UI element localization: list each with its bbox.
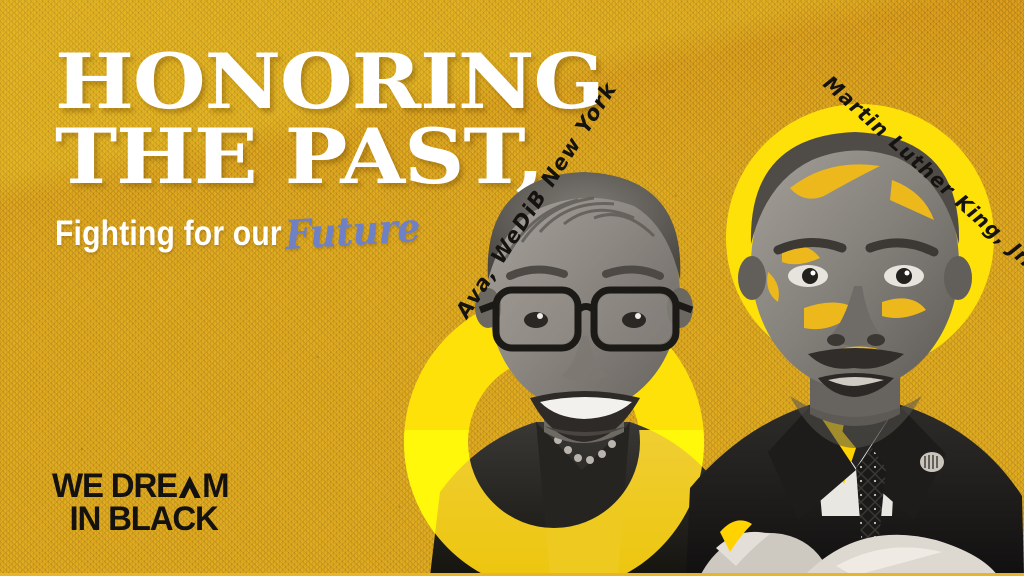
- we-dream-in-black-logo: WE DREM IN BLACK: [52, 470, 234, 535]
- subtitle-line: Fighting for ourFuture: [55, 208, 459, 255]
- logo-row-2: IN BLACK: [52, 503, 228, 536]
- headline-line-1: HONORING: [55, 52, 572, 113]
- subtitle-prefix: Fighting for our: [55, 214, 282, 253]
- poster-canvas: HONORING THE PAST, Fighting for ourFutur…: [0, 0, 1024, 576]
- logo-row-1: WE DREM: [52, 470, 228, 503]
- portrait-martin-luther-king: [686, 96, 1024, 576]
- triangle-a-icon: [178, 472, 201, 496]
- subtitle-script-word: Future: [284, 204, 421, 259]
